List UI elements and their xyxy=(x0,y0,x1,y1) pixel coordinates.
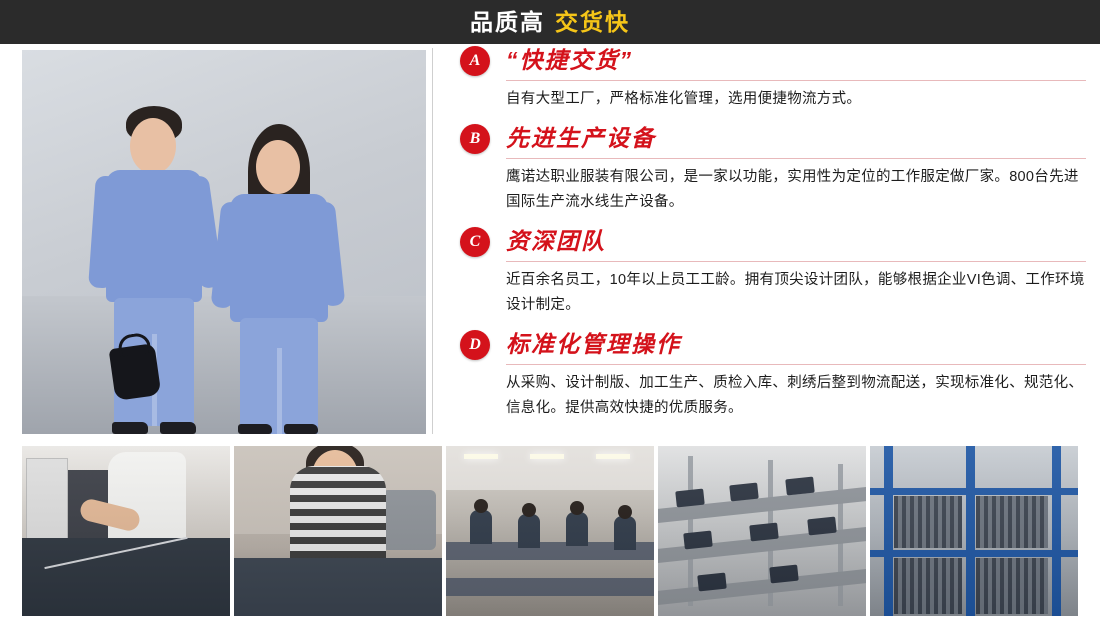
hero-photo xyxy=(22,50,426,434)
hanging-clothes-3 xyxy=(894,558,962,614)
cutting-machine xyxy=(26,458,68,540)
male-shoe-right xyxy=(160,422,196,434)
fabric-stack-1 xyxy=(22,538,230,616)
gallery-photo-4 xyxy=(658,446,866,616)
male-head xyxy=(130,118,176,174)
sewing-machine xyxy=(382,490,436,550)
feature-list: A “快捷交货” 自有大型工厂，严格标准化管理，选用便捷物流方式。 B 先进生产… xyxy=(438,44,1086,438)
male-shoe-left xyxy=(112,422,148,434)
vertical-divider xyxy=(432,48,433,434)
ceiling-lamp-2 xyxy=(530,454,564,459)
female-shoe-left xyxy=(238,424,272,434)
conveyor-post-1 xyxy=(688,456,693,606)
female-trousers xyxy=(240,318,318,434)
floor-worker-3 xyxy=(566,512,588,546)
feature-badge-c: C xyxy=(460,227,490,257)
rack-column-1 xyxy=(884,446,893,616)
ceiling-lamp-1 xyxy=(464,454,498,459)
feature-title-c: 资深团队 xyxy=(506,225,1086,262)
feature-title-b: 先进生产设备 xyxy=(506,122,1086,159)
female-head xyxy=(256,140,300,194)
feature-item-b: B 先进生产设备 鹰诺达职业服装有限公司，是一家以功能，实用性为定位的工作服定做… xyxy=(456,122,1086,215)
hanging-clothes-4 xyxy=(976,558,1048,614)
rack-shelf-2 xyxy=(870,550,1078,557)
floor-worker-2 xyxy=(518,514,540,548)
conveyor-garment-4 xyxy=(683,531,713,550)
conveyor-garment-7 xyxy=(697,573,727,592)
conveyor-garment-2 xyxy=(729,483,759,502)
workshop-ceiling xyxy=(446,446,654,490)
model-female xyxy=(200,118,360,434)
feature-body-b: 鹰诺达职业服装有限公司，是一家以功能，实用性为定位的工作服定做厂家。800台先进… xyxy=(506,165,1086,215)
male-jacket xyxy=(106,170,202,302)
floor-worker-1 xyxy=(470,510,492,544)
feature-title-d: 标准化管理操作 xyxy=(506,328,1086,365)
gallery-photo-2 xyxy=(234,446,442,616)
feature-badge-a: A xyxy=(460,46,490,76)
page-title-part2: 交货快 xyxy=(555,9,630,35)
feature-body-c: 近百余名员工，10年以上员工工龄。拥有顶尖设计团队，能够根据企业VI色调、工作环… xyxy=(506,268,1086,318)
gallery-photo-5 xyxy=(870,446,1078,616)
floor-worker-4 xyxy=(614,516,636,550)
feature-item-c: C 资深团队 近百余名员工，10年以上员工工龄。拥有顶尖设计团队，能够根据企业V… xyxy=(456,225,1086,318)
conveyor-garment-5 xyxy=(749,523,779,542)
feature-badge-b: B xyxy=(460,124,490,154)
rack-column-3 xyxy=(1052,446,1061,616)
feature-item-a: A “快捷交货” 自有大型工厂，严格标准化管理，选用便捷物流方式。 xyxy=(456,44,1086,112)
worktable-row-2 xyxy=(446,578,654,596)
feature-badge-d: D xyxy=(460,330,490,360)
rack-column-2 xyxy=(966,446,975,616)
ceiling-lamp-3 xyxy=(596,454,630,459)
gallery-photo-3 xyxy=(446,446,654,616)
gallery-photo-1 xyxy=(22,446,230,616)
hanging-clothes-1 xyxy=(894,496,962,548)
header-bar: 品质高交货快 xyxy=(0,0,1100,44)
main-content: A “快捷交货” 自有大型工厂，严格标准化管理，选用便捷物流方式。 B 先进生产… xyxy=(0,44,1100,440)
fabric-stack-2 xyxy=(234,558,442,616)
conveyor-garment-6 xyxy=(807,517,837,536)
feature-body-d: 从采购、设计制版、加工生产、质检入库、刺绣后整到物流配送，实现标准化、规范化、信… xyxy=(506,371,1086,421)
female-jacket xyxy=(230,194,328,322)
female-shoe-right xyxy=(284,424,318,434)
conveyor-garment-3 xyxy=(785,477,815,496)
conveyor-garment-8 xyxy=(769,565,799,584)
feature-item-d: D 标准化管理操作 从采购、设计制版、加工生产、质检入库、刺绣后整到物流配送，实… xyxy=(456,328,1086,421)
photo-strip xyxy=(22,446,1078,616)
conveyor-garment-1 xyxy=(675,489,705,508)
page-title: 品质高交货快 xyxy=(470,0,630,44)
page-title-part1: 品质高 xyxy=(470,9,545,35)
promo-page: 品质高交货快 xyxy=(0,0,1100,619)
handbag xyxy=(109,343,162,401)
hanging-clothes-2 xyxy=(976,496,1048,548)
feature-body-a: 自有大型工厂，严格标准化管理，选用便捷物流方式。 xyxy=(506,87,1086,112)
feature-title-a: “快捷交货” xyxy=(506,44,1086,81)
rack-shelf-1 xyxy=(870,488,1078,495)
